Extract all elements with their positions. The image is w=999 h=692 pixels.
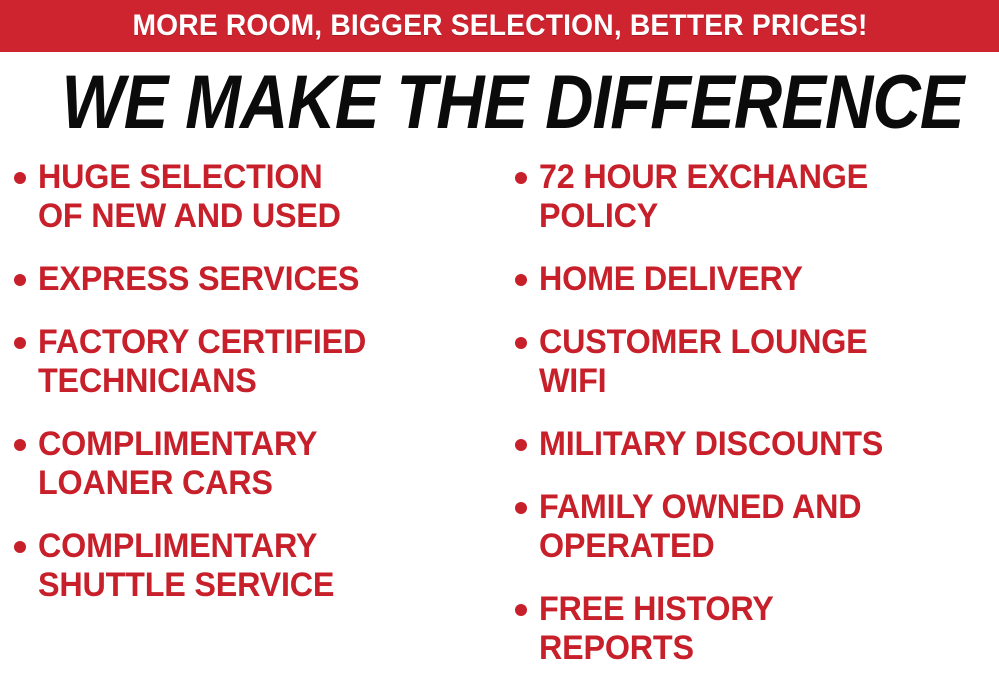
benefits-columns: HUGE SELECTION OF NEW AND USED EXPRESS S…: [0, 158, 999, 692]
dealership-promo-banner: MORE ROOM, BIGGER SELECTION, BETTER PRIC…: [0, 0, 999, 692]
list-item: COMPLIMENTARY SHUTTLE SERVICE: [14, 527, 505, 605]
bullet-dot-icon: [515, 172, 527, 184]
bullet-dot-icon: [515, 337, 527, 349]
benefit-label: FACTORY CERTIFIED TECHNICIANS: [38, 323, 366, 401]
benefit-label: MILITARY DISCOUNTS: [539, 425, 883, 464]
list-item: HUGE SELECTION OF NEW AND USED: [14, 158, 505, 236]
bullet-dot-icon: [14, 274, 26, 286]
headline: WE MAKE THE DIFFERENCE: [0, 62, 999, 144]
list-item: CUSTOMER LOUNGE WIFI: [515, 323, 999, 401]
bullet-dot-icon: [515, 502, 527, 514]
benefit-label: HUGE SELECTION OF NEW AND USED: [38, 158, 341, 236]
list-item: 72 HOUR EXCHANGE POLICY: [515, 158, 999, 236]
tagline-strip: MORE ROOM, BIGGER SELECTION, BETTER PRIC…: [0, 0, 999, 52]
list-item: COMPLIMENTARY LOANER CARS: [14, 425, 505, 503]
bullet-dot-icon: [515, 274, 527, 286]
headline-text: WE MAKE THE DIFFERENCE: [62, 62, 964, 144]
bullet-dot-icon: [14, 172, 26, 184]
benefit-label: CUSTOMER LOUNGE WIFI: [539, 323, 868, 401]
list-item: MILITARY DISCOUNTS: [515, 425, 999, 464]
benefit-label: COMPLIMENTARY LOANER CARS: [38, 425, 317, 503]
bullet-dot-icon: [14, 337, 26, 349]
benefit-label: FREE HISTORY REPORTS: [539, 590, 774, 668]
list-item: EXPRESS SERVICES: [14, 260, 505, 299]
benefits-column-right: 72 HOUR EXCHANGE POLICY HOME DELIVERY CU…: [505, 158, 999, 692]
list-item: HOME DELIVERY: [515, 260, 999, 299]
list-item: FREE HISTORY REPORTS: [515, 590, 999, 668]
benefit-label: HOME DELIVERY: [539, 260, 803, 299]
list-item: FACTORY CERTIFIED TECHNICIANS: [14, 323, 505, 401]
benefit-label: EXPRESS SERVICES: [38, 260, 359, 299]
benefit-label: FAMILY OWNED AND OPERATED: [539, 488, 861, 566]
tagline-text: MORE ROOM, BIGGER SELECTION, BETTER PRIC…: [132, 11, 867, 41]
list-item: FAMILY OWNED AND OPERATED: [515, 488, 999, 566]
benefit-label: COMPLIMENTARY SHUTTLE SERVICE: [38, 527, 334, 605]
bullet-dot-icon: [515, 439, 527, 451]
benefits-list-right: 72 HOUR EXCHANGE POLICY HOME DELIVERY CU…: [515, 158, 999, 668]
benefits-list-left: HUGE SELECTION OF NEW AND USED EXPRESS S…: [14, 158, 505, 605]
bullet-dot-icon: [14, 439, 26, 451]
bullet-dot-icon: [515, 604, 527, 616]
bullet-dot-icon: [14, 541, 26, 553]
benefits-column-left: HUGE SELECTION OF NEW AND USED EXPRESS S…: [0, 158, 505, 629]
benefit-label: 72 HOUR EXCHANGE POLICY: [539, 158, 868, 236]
